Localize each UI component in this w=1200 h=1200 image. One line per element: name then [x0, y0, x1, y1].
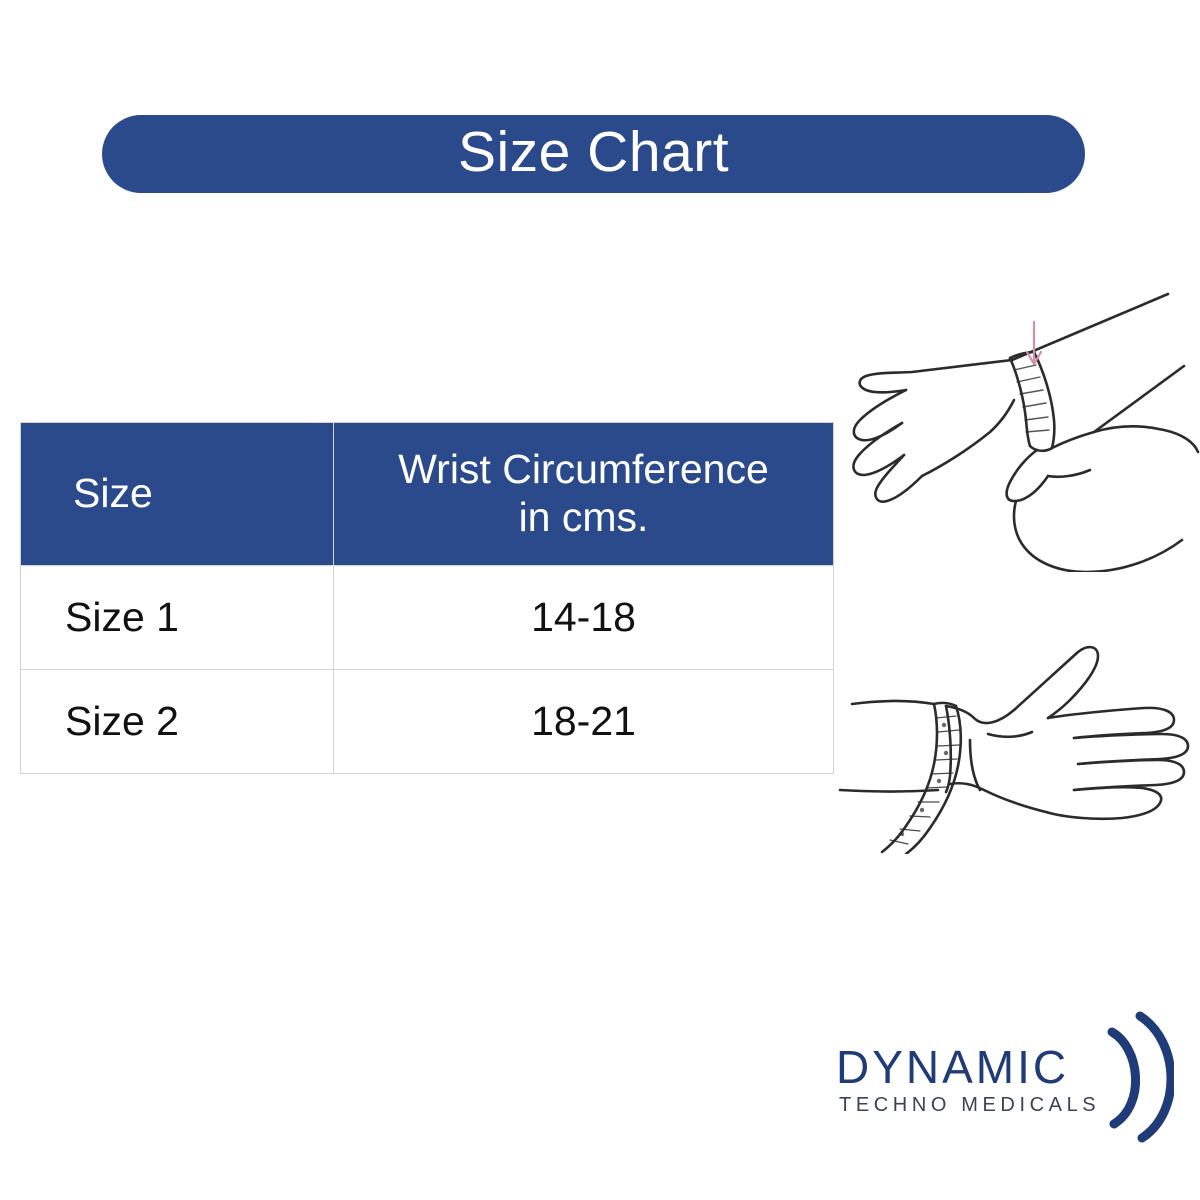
- measuring-wrist-illustration-icon: [838, 280, 1200, 572]
- header-fill-circumference: Wrist Circumference in cms.: [334, 423, 833, 565]
- table-cell-size: Size 2: [21, 670, 334, 774]
- table-header-label-line-2: in cms.: [519, 494, 649, 540]
- table-header-label-size: Size: [73, 470, 153, 518]
- size-chart-page: Size Chart Size Wrist Circumference in c…: [0, 0, 1200, 1200]
- table-cell-circumference: 14-18: [334, 566, 834, 670]
- table-body: Size 1 14-18 Size 2 18-21: [21, 566, 834, 774]
- table-header-label-circumference: Wrist Circumference in cms.: [334, 446, 833, 541]
- cell-text-size: Size 1: [65, 594, 179, 641]
- table-header-cell-size: Size: [21, 423, 334, 566]
- page-title: Size Chart: [458, 124, 729, 185]
- cell-text-size: Size 2: [65, 698, 179, 745]
- table-row: Size 2 18-21: [21, 670, 834, 774]
- table-row: Size 1 14-18: [21, 566, 834, 670]
- brand-logo: DYNAMIC TECHNO MEDICALS: [836, 1020, 1136, 1130]
- table-cell-circumference: 18-21: [334, 670, 834, 774]
- cell-text-circumference: 18-21: [531, 698, 636, 745]
- table-header: Size Wrist Circumference in cms.: [21, 423, 834, 566]
- table-header-row: Size Wrist Circumference in cms.: [21, 423, 834, 566]
- cell-text-circumference: 14-18: [531, 594, 636, 641]
- table-header-cell-circumference: Wrist Circumference in cms.: [334, 423, 834, 566]
- table-cell-size: Size 1: [21, 566, 334, 670]
- logo-tagline-text: TECHNO MEDICALS: [839, 1095, 1100, 1115]
- size-chart-table: Size Wrist Circumference in cms. Size 1: [20, 422, 834, 774]
- logo-brand-text: DYNAMIC: [836, 1044, 1069, 1090]
- page-title-banner: Size Chart: [102, 115, 1085, 193]
- table-header-label-line-1: Wrist Circumference: [398, 446, 769, 492]
- header-fill-size: Size: [21, 423, 333, 565]
- signal-waves-icon: [1084, 1006, 1174, 1146]
- open-hand-tape-illustration-icon: [822, 626, 1200, 854]
